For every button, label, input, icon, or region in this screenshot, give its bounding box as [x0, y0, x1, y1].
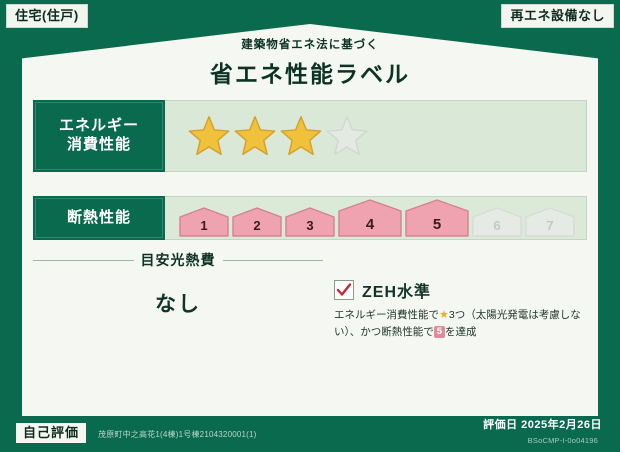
zeh-desc-part1: エネルギー消費性能で: [334, 309, 439, 321]
insulation-level-label: 3: [306, 219, 313, 235]
insulation-level-label: 7: [546, 219, 553, 235]
roof-shape: [22, 24, 598, 90]
self-assessment-badge: 自己評価: [16, 423, 86, 443]
insulation-level-4: 4: [338, 199, 402, 237]
tag-renewable-equipment: 再エネ設備なし: [501, 4, 614, 28]
insulation-badge-icon: 5: [434, 326, 445, 338]
check-icon: [336, 282, 352, 298]
star-rating: [187, 114, 369, 158]
utility-cost-heading-label: 目安光熱費: [141, 250, 216, 270]
tag-building-type: 住宅(住戸): [6, 4, 88, 28]
star-filled-icon: [187, 114, 231, 158]
insulation-level-scale: 1234567: [179, 199, 575, 237]
zeh-title-line: ZEH水準: [334, 278, 582, 302]
energy-performance-value: [165, 100, 587, 172]
zeh-section: ZEH水準 エネルギー消費性能で★3つ（太陽光発電は考慮しない）、かつ断熱性能で…: [334, 278, 582, 340]
insulation-level-label: 2: [253, 219, 260, 235]
section-divider: [323, 262, 324, 358]
energy-performance-category: エネルギー 消費性能: [33, 100, 165, 172]
energy-category-line1: エネルギー: [59, 117, 139, 136]
evaluation-code: BSoCMP-I-0o04196: [528, 436, 598, 445]
zeh-checkbox[interactable]: [334, 280, 354, 300]
insulation-level-7: 7: [525, 207, 575, 237]
energy-category-line2: 消費性能: [67, 136, 131, 155]
utility-cost-heading: 目安光熱費: [33, 250, 323, 270]
heading-rule-right: [223, 260, 324, 261]
insulation-performance-row: 断熱性能 1234567: [33, 196, 587, 240]
insulation-level-label: 1: [200, 219, 207, 235]
insulation-level-label: 5: [433, 217, 441, 235]
insulation-category-label: 断熱性能: [67, 209, 131, 228]
star-filled-icon: [279, 114, 323, 158]
star-icon: ★: [439, 309, 449, 321]
property-address: 茂原町中之高花1(4棟)1号棟2104320001(1): [98, 429, 257, 440]
insulation-performance-value: 1234567: [165, 196, 587, 240]
heading-rule-left: [33, 260, 134, 261]
zeh-description: エネルギー消費性能で★3つ（太陽光発電は考慮しない）、かつ断熱性能で5を達成: [334, 307, 582, 340]
utility-cost-value: なし: [33, 288, 323, 318]
insulation-performance-category: 断熱性能: [33, 196, 165, 240]
insulation-level-1: 1: [179, 207, 229, 237]
footer-bar: 自己評価 茂原町中之高花1(4棟)1号棟2104320001(1) 評価日 20…: [0, 412, 620, 452]
evaluation-date: 評価日 2025年2月26日: [483, 416, 602, 432]
zeh-title-label: ZEH水準: [362, 278, 431, 302]
energy-label-root: 住宅(住戸) 再エネ設備なし 建築物省エネ法に基づく 省エネ性能ラベル エネルギ…: [0, 0, 620, 452]
insulation-level-label: 6: [493, 219, 500, 235]
insulation-level-6: 6: [472, 207, 522, 237]
insulation-level-label: 4: [366, 217, 374, 235]
insulation-level-3: 3: [285, 207, 335, 237]
zeh-desc-part3: を達成: [445, 326, 477, 338]
star-filled-icon: [233, 114, 277, 158]
insulation-level-5: 5: [405, 199, 469, 237]
insulation-level-2: 2: [232, 207, 282, 237]
energy-performance-row: エネルギー 消費性能: [33, 100, 587, 172]
star-empty-icon: [325, 114, 369, 158]
